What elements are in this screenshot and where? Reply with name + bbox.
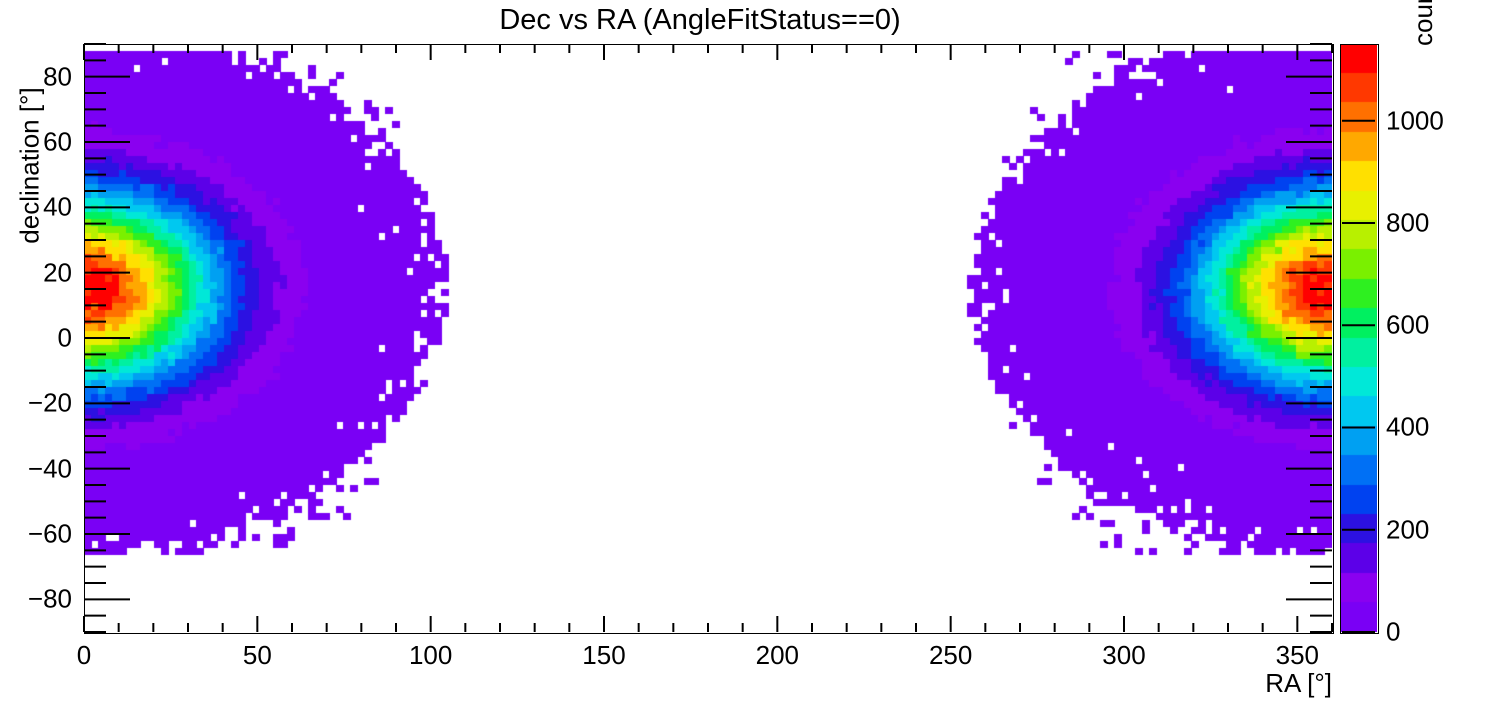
y-tick-label-0: 0	[0, 323, 72, 354]
y-tick-label--60: −60	[0, 519, 72, 550]
x-tick-label-200: 200	[756, 640, 799, 671]
x-tick-label-50: 50	[243, 640, 272, 671]
x-tick-label-300: 300	[1102, 640, 1145, 671]
y-tick-label-40: 40	[0, 192, 72, 223]
z-tick-label-400: 400	[1386, 412, 1429, 443]
z-tick-label-1000: 1000	[1386, 105, 1444, 136]
z-tick-label-0: 0	[1386, 617, 1400, 648]
z-tick-label-600: 600	[1386, 310, 1429, 341]
x-tick-label-350: 350	[1276, 640, 1319, 671]
y-tick-label--40: −40	[0, 453, 72, 484]
y-tick-label--20: −20	[0, 388, 72, 419]
x-tick-label-100: 100	[409, 640, 452, 671]
page-title: Dec vs RA (AngleFitStatus==0)	[0, 4, 1400, 37]
y-tick-label-60: 60	[0, 127, 72, 158]
x-tick-label-150: 150	[582, 640, 625, 671]
z-tick-label-200: 200	[1386, 514, 1429, 545]
root-plot-canvas: Dec vs RA (AngleFitStatus==0) RA [°] dec…	[0, 0, 1496, 722]
x-tick-label-250: 250	[929, 640, 972, 671]
histogram-plot-area[interactable]	[84, 44, 1332, 632]
colorbar-axis-title: count	[1408, 0, 1439, 46]
x-axis-title: RA [°]	[1265, 668, 1332, 699]
y-tick-label-80: 80	[0, 61, 72, 92]
y-tick-label--80: −80	[0, 584, 72, 615]
colorbar-palette[interactable]	[1340, 44, 1377, 632]
y-tick-label-20: 20	[0, 257, 72, 288]
z-tick-label-800: 800	[1386, 207, 1429, 238]
x-tick-label-0: 0	[77, 640, 91, 671]
